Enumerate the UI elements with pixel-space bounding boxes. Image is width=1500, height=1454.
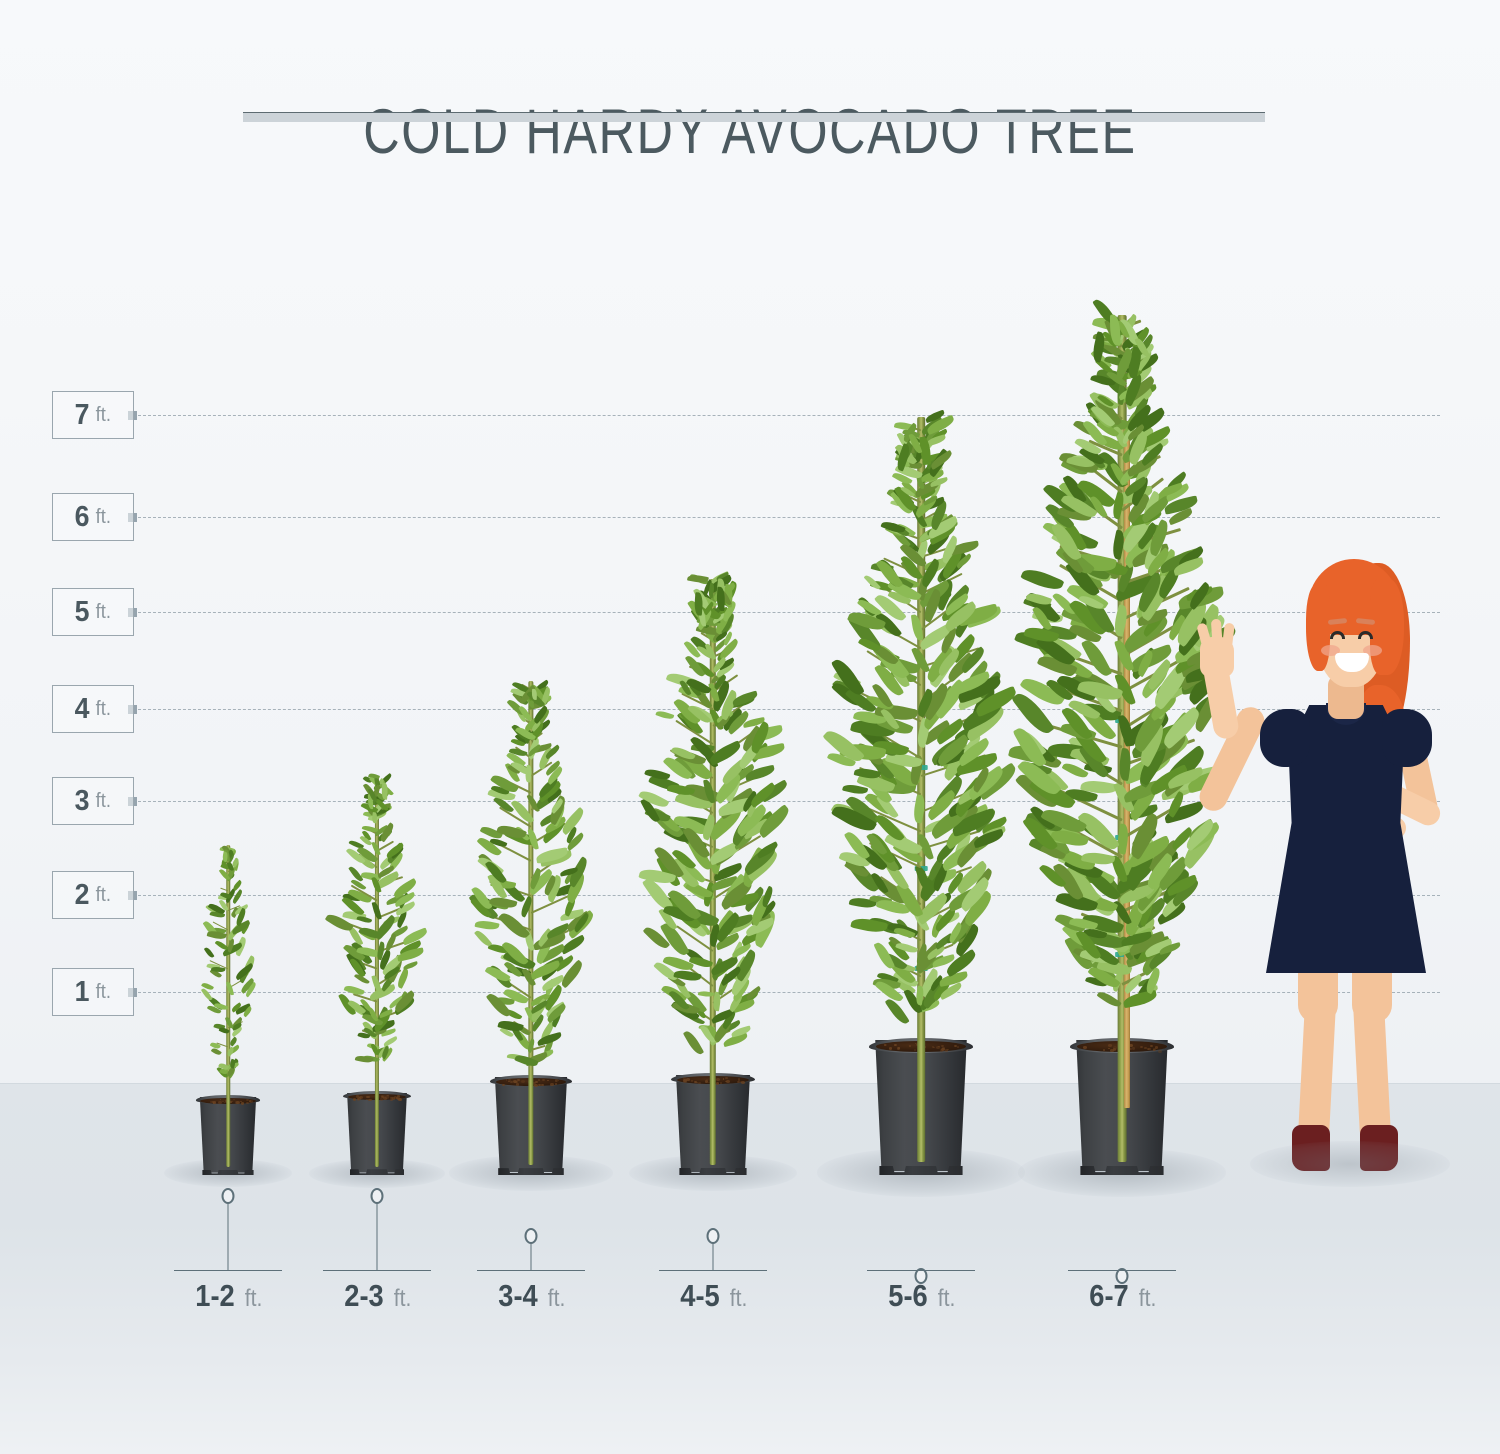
callout-rule [477,1270,585,1271]
callout-range-value: 5-6 [888,1278,927,1314]
callout-label: 4-5ft. [678,1278,749,1314]
callout-rule [174,1270,282,1271]
hair-side-left [1306,585,1330,671]
y-axis-label-unit: ft. [96,602,111,622]
size-callout-3to4ft[interactable]: 3-4ft. [451,1228,611,1332]
figure-shadow [1250,1141,1450,1187]
callout-unit: ft. [1139,1285,1157,1313]
y-axis-label-number: 7 [75,401,90,430]
callout-label: 1-2ft. [193,1278,264,1314]
callout-range-value: 1-2 [195,1278,234,1314]
callout-label: 3-4ft. [496,1278,567,1314]
leaf [357,915,373,925]
leaf [372,902,382,920]
callout-label: 2-3ft. [342,1278,413,1314]
callout-leader-line [713,1242,714,1270]
callout-leader-line [228,1202,229,1270]
y-axis-label-number: 2 [75,881,90,910]
leaf [532,689,537,700]
y-axis-label-unit: ft. [96,405,111,425]
callout-rule [659,1270,767,1271]
tree-canopy [992,310,1252,1175]
leaf [381,782,388,800]
callout-range-value: 3-4 [498,1278,537,1314]
callout-rule [867,1270,975,1271]
y-axis-label-5ft: 5ft. [52,588,134,636]
leaf [528,829,539,851]
leaf [697,990,714,998]
title-divider-band [243,113,1265,122]
y-axis-label-number: 3 [75,787,90,816]
header: COLD HARDY AVOCADO TREE [0,96,1500,168]
y-axis-label-number: 6 [75,503,90,532]
dress-sleeve-left [1260,709,1310,767]
callout-label: 6-7ft. [1087,1278,1158,1314]
callout-rule [323,1270,431,1271]
callout-leader-line [531,1242,532,1270]
size-callout-4to5ft[interactable]: 4-5ft. [633,1228,793,1332]
dress-sleeve-right [1382,709,1432,767]
leaf [850,915,888,935]
branch [220,888,228,892]
eye-right [1358,631,1373,639]
hair-side-right [1370,579,1404,675]
leaf [383,1036,398,1047]
callout-unit: ft. [938,1285,956,1313]
callout-label: 5-6ft. [886,1278,957,1314]
leaf [1116,823,1131,854]
callout-unit: ft. [730,1285,748,1313]
callout-rule [1068,1270,1176,1271]
leaf [210,1047,221,1057]
y-axis-label-unit: ft. [96,699,111,719]
size-callout-5to6ft[interactable]: 5-6ft. [841,1268,1001,1332]
callout-range-value: 2-3 [344,1278,383,1314]
leaf [226,981,234,996]
leaf [1020,564,1065,594]
leaf [656,710,675,722]
callout-leader-line [377,1202,378,1270]
leaf [204,946,215,959]
y-axis-label-unit: ft. [96,507,111,527]
y-axis-label-number: 5 [75,598,90,627]
woman-scale-figure [1230,545,1490,1185]
y-axis-label-number: 4 [75,695,90,724]
callout-range-value: 4-5 [680,1278,719,1314]
leaf [1096,989,1121,1010]
page-title: COLD HARDY AVOCADO TREE [150,96,1350,168]
leaf [526,1038,536,1053]
leaf [682,1029,704,1057]
leaf [474,929,492,949]
y-axis-label-number: 1 [75,978,90,1007]
callout-unit: ft. [394,1285,412,1313]
callout-range-value: 6-7 [1089,1278,1128,1314]
size-callout-2to3ft[interactable]: 2-3ft. [297,1188,457,1332]
y-axis-label-4ft: 4ft. [52,685,134,733]
y-axis-label-7ft: 7ft. [52,391,134,439]
leaf [224,1015,233,1028]
callout-unit: ft. [548,1285,566,1313]
y-axis-label-6ft: 6ft. [52,493,134,541]
size-callout-6to7ft[interactable]: 6-7ft. [1042,1268,1202,1332]
size-callout-1to2ft[interactable]: 1-2ft. [148,1188,308,1332]
callout-unit: ft. [245,1285,263,1313]
eye-left [1330,631,1345,639]
